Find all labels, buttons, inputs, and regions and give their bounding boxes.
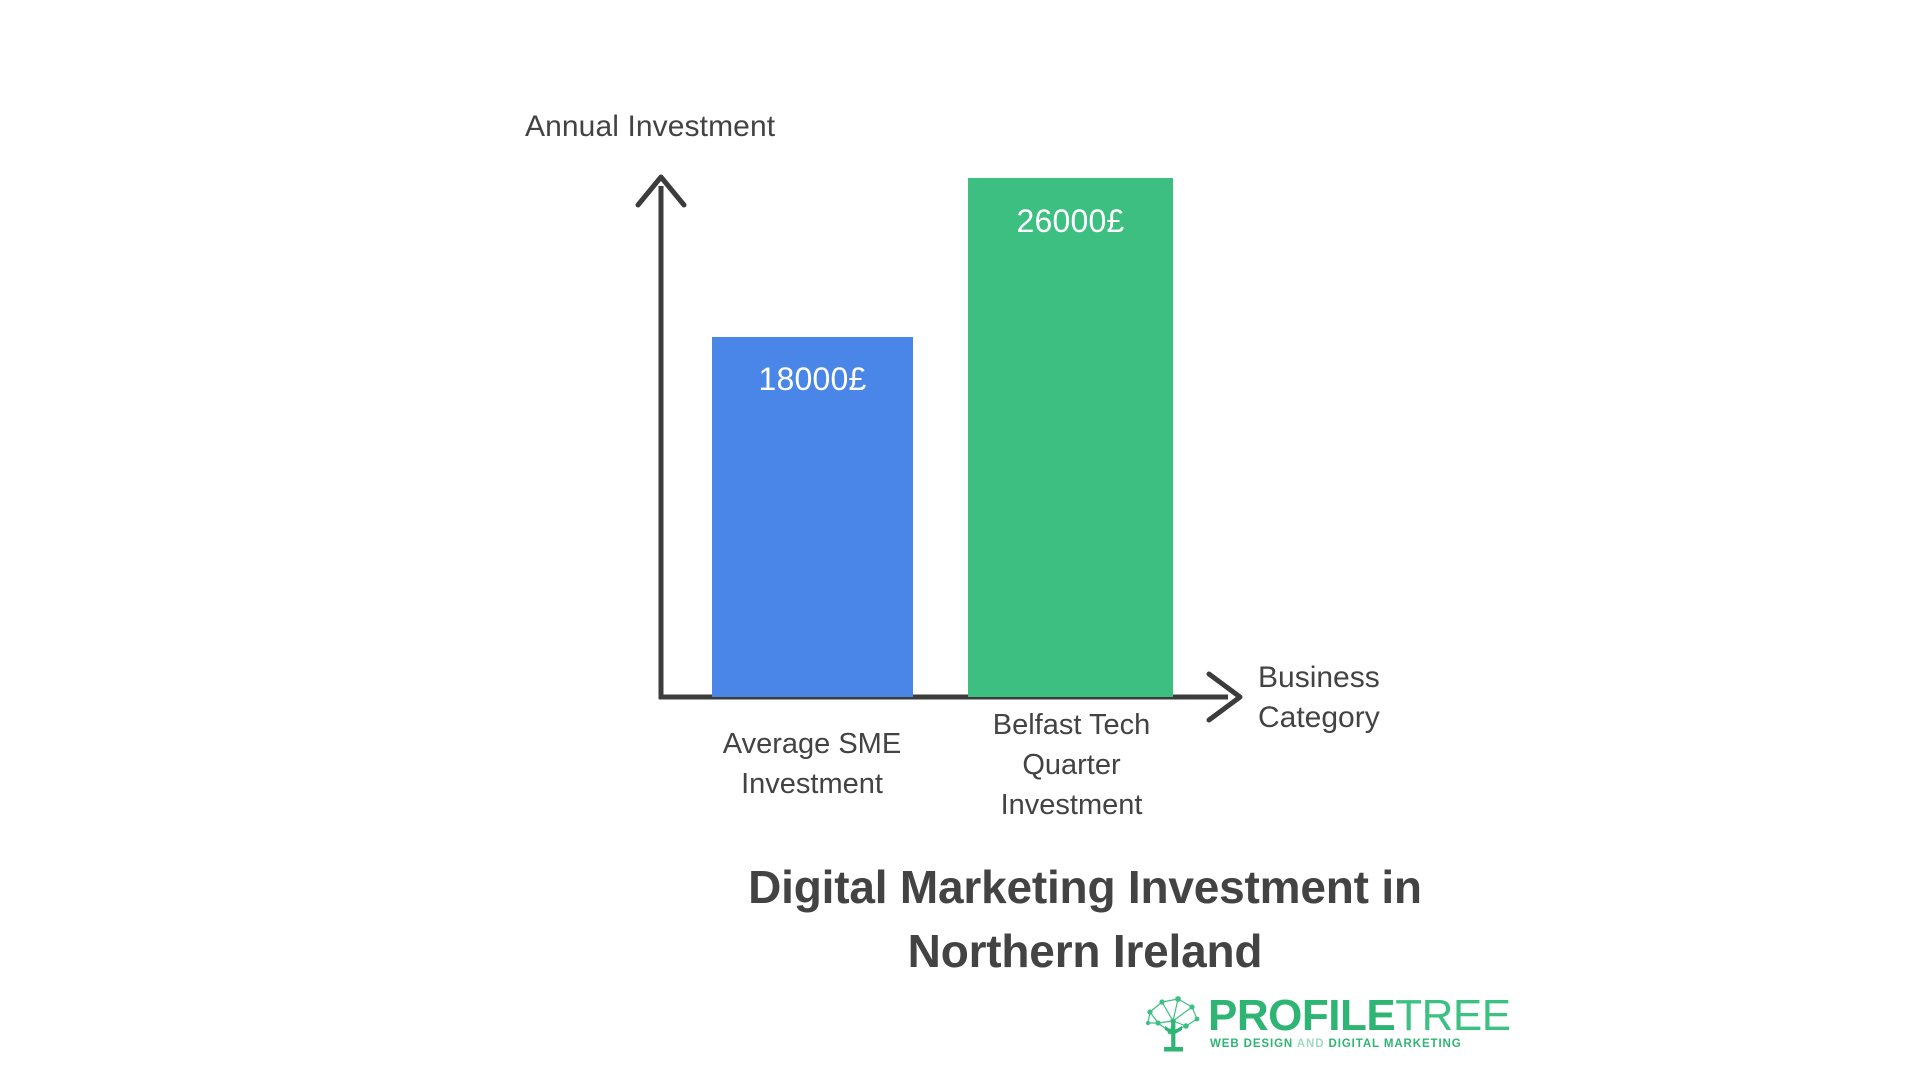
bar-average-sme-investment[interactable]: 18000£ — [712, 337, 913, 697]
network-tree-icon — [1140, 990, 1206, 1052]
x-axis-arrow-icon — [1209, 674, 1240, 720]
logo-tagline: WEB DESIGN AND DIGITAL MARKETING — [1210, 1038, 1462, 1051]
x-axis-label: Business Category — [1258, 658, 1458, 738]
x-axis-label-line-1: Business — [1258, 658, 1458, 698]
logo-word-profile: PROFILE — [1208, 991, 1395, 1040]
bar-belfast-tech-quarter-investment[interactable]: 26000£ — [968, 178, 1173, 697]
y-axis-arrow-icon — [638, 177, 684, 205]
x-axis-label-line-2: Category — [1258, 698, 1458, 738]
chart-title-line-1: Digital Marketing Investment in — [300, 855, 1870, 919]
bar-value-label: 26000£ — [968, 202, 1173, 240]
category-label-average-sme-investment: Average SME Investment — [692, 724, 932, 804]
chart-title: Digital Marketing Investment in Northern… — [300, 855, 1870, 983]
category-label-line-1: Belfast Tech — [950, 705, 1193, 745]
profiletree-logo: PROFILETREE WEB DESIGN AND DIGITAL MARKE… — [1140, 988, 1410, 1060]
bar-value-label: 18000£ — [712, 360, 913, 398]
logo-tagline-part-1: WEB DESIGN — [1210, 1038, 1293, 1050]
logo-wordmark: PROFILETREE — [1208, 994, 1511, 1038]
category-label-line-2: Quarter — [950, 745, 1193, 785]
category-label-line-1: Average SME — [692, 724, 932, 764]
logo-tagline-part-2: AND — [1297, 1038, 1325, 1050]
category-label-line-3: Investment — [950, 785, 1193, 825]
logo-word-tree: TREE — [1395, 991, 1510, 1040]
category-label-belfast-tech-quarter-investment: Belfast Tech Quarter Investment — [950, 705, 1193, 825]
y-axis-label: Annual Investment — [525, 108, 775, 146]
chart-title-line-2: Northern Ireland — [300, 919, 1870, 983]
chart-canvas: Annual Investment Business Category 1800… — [0, 0, 1920, 1080]
category-label-line-2: Investment — [692, 764, 932, 804]
logo-tagline-part-3: DIGITAL MARKETING — [1329, 1038, 1462, 1050]
